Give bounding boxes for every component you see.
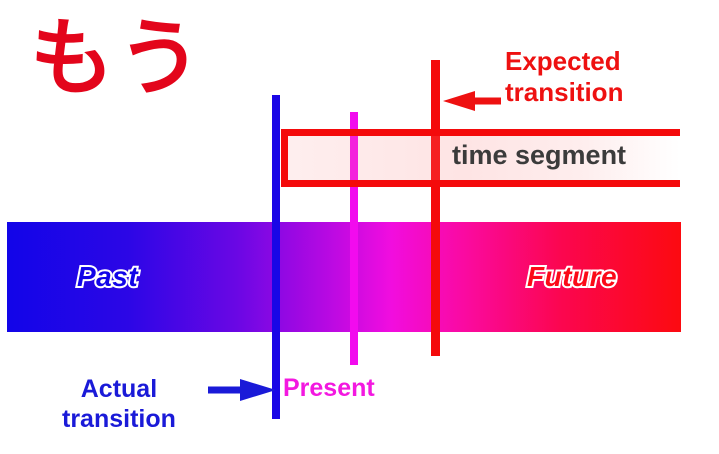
actual-transition-line	[272, 95, 280, 419]
expected-transition-line2: transition	[505, 77, 623, 108]
expected-transition-line1: Expected	[505, 46, 621, 76]
actual-transition-annotation: Actual transition	[62, 374, 176, 434]
actual-transition-line1: Actual	[81, 375, 157, 403]
past-label: Past	[77, 261, 138, 293]
timeline-diagram: もう Past Future time segment Expected tra…	[0, 0, 719, 454]
arrow-right-icon	[208, 379, 276, 401]
time-segment-label: time segment	[452, 140, 626, 171]
actual-transition-line2: transition	[62, 404, 176, 434]
expected-transition-line	[431, 60, 440, 356]
timeline-gradient-bar: Past Future	[7, 222, 681, 332]
arrow-left-icon	[443, 91, 501, 111]
present-label: Present	[283, 374, 375, 403]
future-label: Future	[527, 261, 617, 293]
japanese-caption: もう	[30, 16, 207, 100]
expected-transition-annotation: Expected transition	[505, 46, 623, 107]
